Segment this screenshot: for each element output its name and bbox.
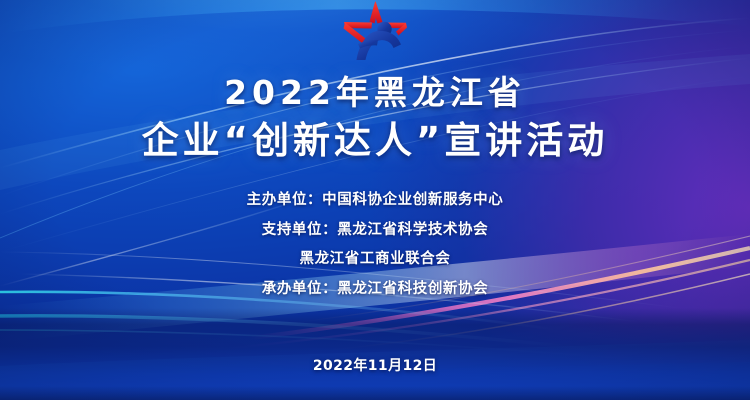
credit-line-undertaker: 承办单位：黑龙江省科技创新协会 xyxy=(247,282,504,297)
title-line-2: 企业“创新达人”宣讲活动 xyxy=(142,122,609,159)
event-banner: 2022年黑龙江省 企业“创新达人”宣讲活动 主办单位：中国科协企业创新服务中心… xyxy=(0,0,750,400)
title-line-1: 2022年黑龙江省 xyxy=(142,76,609,109)
banner-content: 2022年黑龙江省 企业“创新达人”宣讲活动 主办单位：中国科协企业创新服务中心… xyxy=(0,0,750,400)
credit-line-organizer: 主办单位：中国科协企业创新服务中心 xyxy=(247,193,504,208)
credit-line-supporter-2: 黑龙江省工商业联合会 xyxy=(247,252,504,267)
title-block: 2022年黑龙江省 企业“创新达人”宣讲活动 xyxy=(142,76,609,159)
credit-line-supporter-1: 支持单位：黑龙江省科学技术协会 xyxy=(247,223,504,238)
credits-block: 主办单位：中国科协企业创新服务中心 支持单位：黑龙江省科学技术协会 黑龙江省工商… xyxy=(247,193,504,296)
event-date: 2022年11月12日 xyxy=(0,355,750,375)
star-person-logo-icon xyxy=(332,0,418,62)
